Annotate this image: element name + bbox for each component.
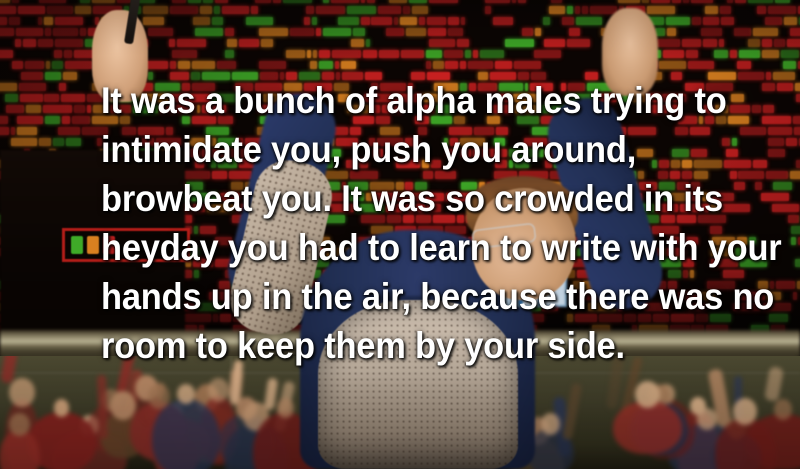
quote-line: browbeat you. It was so crowded in its <box>101 174 733 223</box>
quote-line: intimidate you, push you around, <box>101 125 733 174</box>
quote-line: hands up in the air, because there was n… <box>101 272 733 321</box>
quote-line: heyday you had to learn to write with yo… <box>101 223 733 272</box>
quote-line: It was a bunch of alpha males trying to <box>101 76 733 125</box>
quote-block: It was a bunch of alpha males trying to … <box>101 76 781 370</box>
quote-image: It was a bunch of alpha males trying to … <box>0 0 800 469</box>
quote-line: room to keep them by your side. <box>101 321 733 370</box>
